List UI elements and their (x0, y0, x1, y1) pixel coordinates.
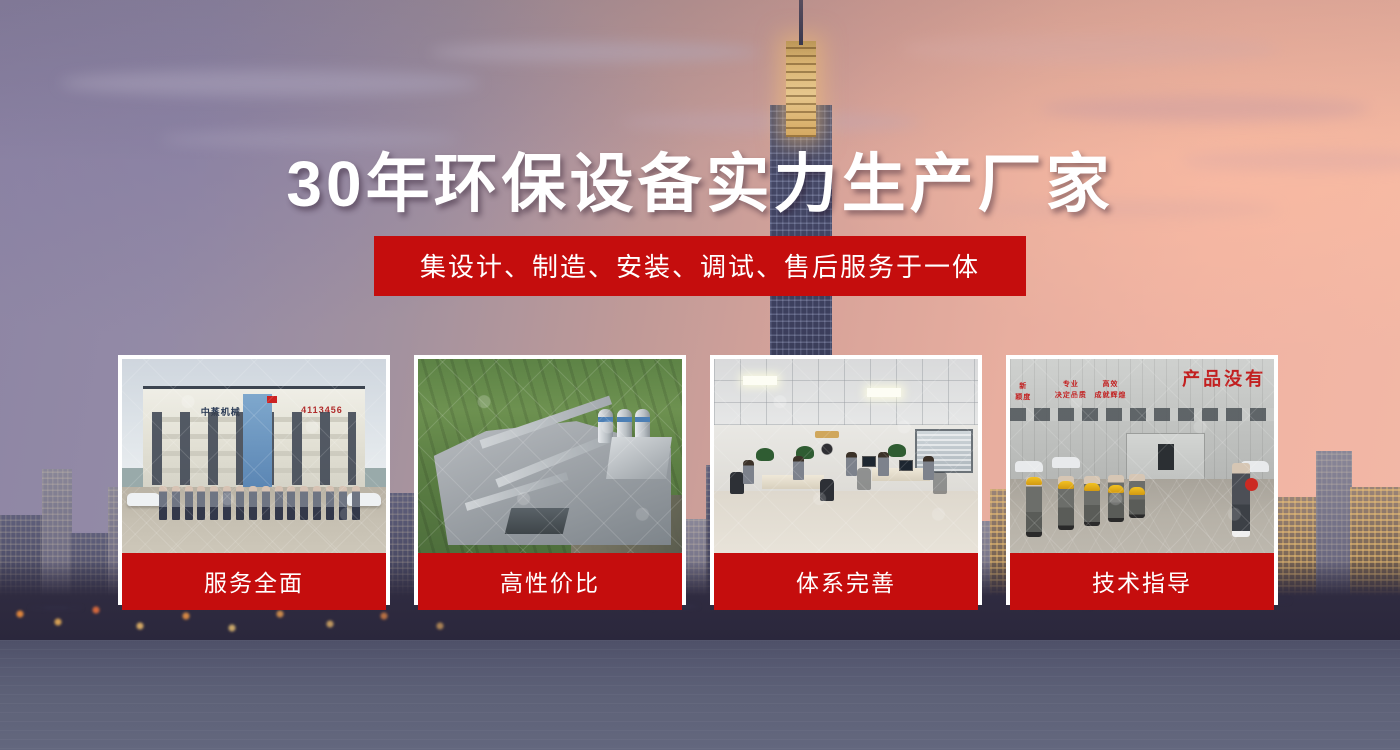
feature-card[interactable]: 体系完善 (710, 355, 982, 605)
hero-banner: 30年环保设备实力生产厂家 集设计、制造、安装、调试、售后服务于一体 中蒸机械 … (0, 0, 1400, 750)
supervisor (1232, 463, 1250, 537)
potted-plant (888, 444, 906, 457)
car (127, 493, 161, 506)
factory-slogan-small: 新颖度 (1015, 382, 1031, 403)
ceiling-light (867, 388, 901, 397)
potted-plant (756, 448, 774, 461)
factory-slogan-small: 高效成就辉煌 (1094, 380, 1126, 401)
building-sign-text: 中蒸机械 (201, 405, 241, 418)
subtitle-banner: 集设计、制造、安装、调试、售后服务于一体 (374, 236, 1026, 296)
card-photo-worker-briefing: 产品没有 新颖度 专业决定品质 高效成就辉煌 (1010, 359, 1274, 553)
river (0, 640, 1400, 750)
wall-decal (812, 437, 842, 459)
cloud (1040, 96, 1370, 122)
card-photo-office-interior (714, 359, 978, 553)
page-title: 30年环保设备实力生产厂家 (0, 133, 1400, 225)
card-caption: 高性价比 (418, 553, 682, 610)
factory-slogan-large: 产品没有 (1182, 365, 1266, 391)
feature-card[interactable]: 产品没有 新颖度 专业决定品质 高效成就辉煌 (1006, 355, 1278, 605)
feature-card-list: 中蒸机械 4113456 服务全面 (118, 355, 1278, 605)
feature-card[interactable]: 中蒸机械 4113456 服务全面 (118, 355, 390, 605)
staff-row (159, 486, 360, 522)
card-photo-office-building: 中蒸机械 4113456 (122, 359, 386, 553)
door (1158, 444, 1174, 470)
tower-spire (799, 0, 803, 45)
red-helmet-icon (1245, 478, 1258, 491)
ceiling-light (743, 376, 777, 385)
card-photo-plant-aerial (418, 359, 682, 553)
cloud (60, 70, 480, 96)
monitor (899, 460, 913, 471)
building-phone-text: 4113456 (301, 405, 343, 415)
subtitle-container: 集设计、制造、安装、调试、售后服务于一体 (0, 236, 1400, 296)
cloud (430, 42, 760, 62)
tower-crown-lights (786, 41, 816, 137)
feature-card[interactable]: 高性价比 (414, 355, 686, 605)
monitor (862, 456, 876, 467)
cloud (900, 34, 1280, 64)
card-caption: 体系完善 (714, 553, 978, 610)
flag-icon (267, 396, 277, 403)
card-caption: 技术指导 (1010, 553, 1274, 610)
factory-slogan-small: 专业决定品质 (1055, 380, 1087, 401)
card-caption: 服务全面 (122, 553, 386, 610)
